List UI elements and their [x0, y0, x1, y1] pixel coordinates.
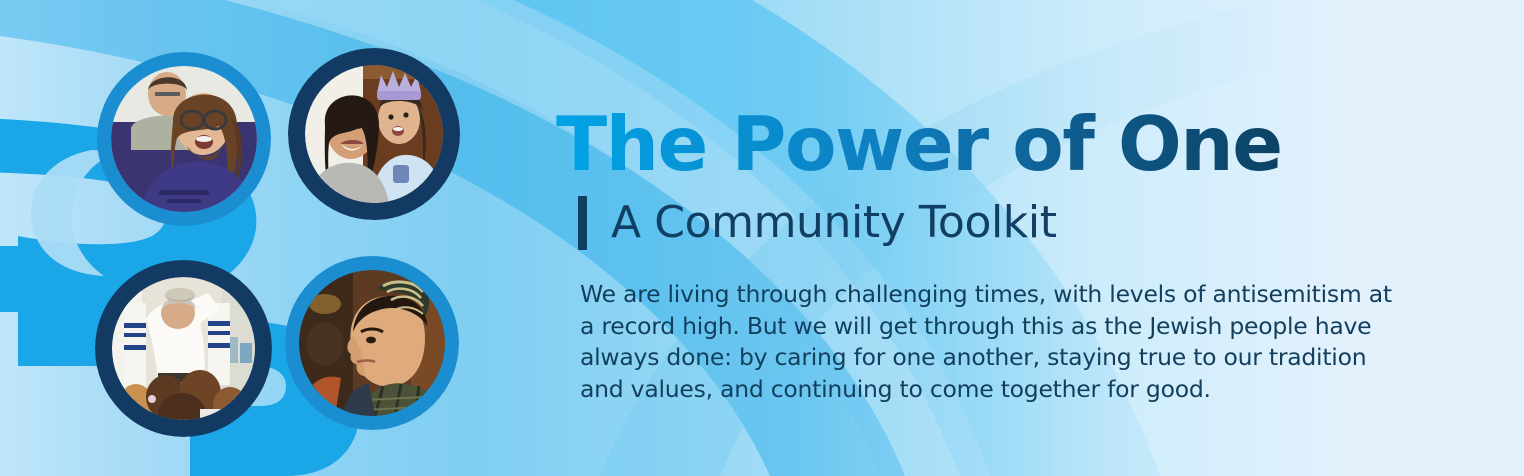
- subtitle-row: A Community Toolkit: [578, 196, 1057, 250]
- photo-circle-man-with-kippah: [285, 256, 459, 430]
- photo-circle-two-young-men: [97, 52, 271, 226]
- photo-circle-teacher-with-children: [95, 260, 272, 437]
- accent-bar-divider: [578, 196, 587, 250]
- page-subtitle: A Community Toolkit: [611, 197, 1057, 249]
- photo-circle-mother-and-child: [288, 48, 460, 220]
- power-of-one-banner: The Power of One A Community Toolkit We …: [0, 0, 1524, 476]
- photo-image: [112, 277, 255, 420]
- photo-image: [299, 270, 445, 416]
- photo-collage: [0, 0, 500, 476]
- banner-body-text: We are living through challenging times,…: [580, 279, 1412, 405]
- photo-image: [111, 66, 257, 212]
- photo-image: [305, 65, 443, 203]
- banner-text-column: The Power of One A Community Toolkit We …: [556, 0, 1436, 476]
- page-title: The Power of One: [556, 104, 1282, 184]
